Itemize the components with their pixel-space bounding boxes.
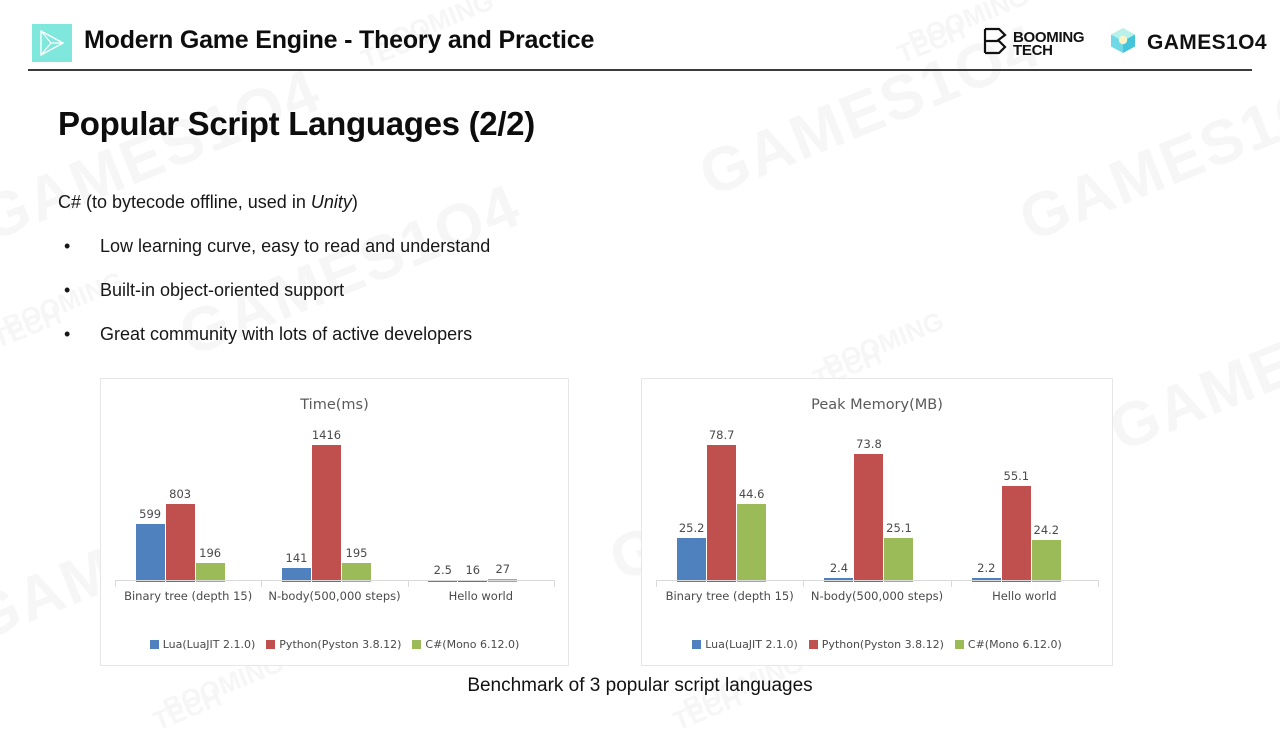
chart-legend: Lua(LuaJIT 2.1.0)Python(Pyston 3.8.12)C#… <box>642 638 1112 651</box>
axis-tick <box>554 580 555 587</box>
category-label: N-body(500,000 steps) <box>803 589 950 603</box>
bullet-marker-icon: • <box>58 324 100 344</box>
bar-value-label: 803 <box>150 487 210 501</box>
bar <box>884 538 913 582</box>
category-label: Hello world <box>408 589 554 603</box>
bar-value-label: 1416 <box>296 428 356 442</box>
bar-group: 25.278.744.6 <box>656 425 803 582</box>
x-axis-line <box>656 580 1098 581</box>
category-label: Hello world <box>951 589 1098 603</box>
axis-tick <box>261 580 262 587</box>
legend-item[interactable]: Lua(LuaJIT 2.1.0) <box>150 638 256 651</box>
legend-swatch-icon <box>955 640 964 649</box>
slide-title: Popular Script Languages (2/2) <box>58 105 535 143</box>
legend-item[interactable]: C#(Mono 6.12.0) <box>412 638 519 651</box>
legend-label: Lua(LuaJIT 2.1.0) <box>705 638 798 651</box>
page-title: Modern Game Engine - Theory and Practice <box>84 26 594 55</box>
booming-b-mark-icon <box>982 27 1008 60</box>
legend-label: Lua(LuaJIT 2.1.0) <box>163 638 256 651</box>
legend-swatch-icon <box>692 640 701 649</box>
slide-header: Modern Game Engine - Theory and Practice… <box>0 0 1280 72</box>
category-label: Binary tree (depth 15) <box>115 589 261 603</box>
x-axis-line <box>115 580 554 581</box>
bullet-marker-icon: • <box>58 236 100 256</box>
axis-tick <box>115 580 116 587</box>
axis-tick <box>656 580 657 587</box>
legend-item[interactable]: Python(Pyston 3.8.12) <box>266 638 401 651</box>
list-item: • Low learning curve, easy to read and u… <box>58 236 490 280</box>
bar <box>737 504 766 582</box>
list-item: • Great community with lots of active de… <box>58 324 490 368</box>
bar <box>854 454 883 582</box>
lead-prefix: C# (to bytecode offline, used in <box>58 192 311 212</box>
bar-group: 2.255.124.2 <box>951 425 1098 582</box>
chart-time-ms: Time(ms)59980319614114161952.51627Binary… <box>100 378 569 666</box>
bar-group: 599803196 <box>115 425 261 582</box>
category-labels: Binary tree (depth 15)N-body(500,000 ste… <box>115 589 554 603</box>
games104-label: GAMES1O4 <box>1147 31 1267 55</box>
list-item-label: Built-in object-oriented support <box>100 280 344 300</box>
axis-tick <box>803 580 804 587</box>
bullet-list: • Low learning curve, easy to read and u… <box>58 236 490 368</box>
chart-title: Time(ms) <box>101 397 568 413</box>
bar <box>136 524 165 582</box>
booming-tech-logo: BOOMING TECH <box>982 27 1084 60</box>
legend-item[interactable]: C#(Mono 6.12.0) <box>955 638 1062 651</box>
bar-group: 2.473.825.1 <box>803 425 950 582</box>
lead-text: C# (to bytecode offline, used in Unity) <box>58 192 358 213</box>
bar-value-label: 78.7 <box>692 428 752 442</box>
legend-swatch-icon <box>809 640 818 649</box>
bar-value-label: 55.1 <box>986 469 1046 483</box>
legend-item[interactable]: Python(Pyston 3.8.12) <box>809 638 944 651</box>
category-label: N-body(500,000 steps) <box>261 589 407 603</box>
chart-legend: Lua(LuaJIT 2.1.0)Python(Pyston 3.8.12)C#… <box>101 638 568 651</box>
lead-suffix: ) <box>352 192 358 212</box>
bar <box>312 445 341 582</box>
legend-label: C#(Mono 6.12.0) <box>968 638 1062 651</box>
list-item-label: Low learning curve, easy to read and und… <box>100 236 490 256</box>
watermark-games104: GAMES1O4 <box>1100 265 1280 466</box>
cube-icon <box>1108 25 1138 60</box>
watermark-booming: BOOMING <box>820 307 948 380</box>
category-label: Binary tree (depth 15) <box>656 589 803 603</box>
category-labels: Binary tree (depth 15)N-body(500,000 ste… <box>656 589 1098 603</box>
axis-tick <box>408 580 409 587</box>
bar-value-label: 25.1 <box>869 521 929 535</box>
chart-title: Peak Memory(MB) <box>642 397 1112 413</box>
bar-value-label: 24.2 <box>1016 523 1076 537</box>
list-item-label: Great community with lots of active deve… <box>100 324 472 344</box>
plot-area: 59980319614114161952.51627 <box>115 425 554 582</box>
bar-group: 2.51627 <box>408 425 554 582</box>
bullet-marker-icon: • <box>58 280 100 300</box>
list-item: • Built-in object-oriented support <box>58 280 490 324</box>
legend-swatch-icon <box>266 640 275 649</box>
legend-label: Python(Pyston 3.8.12) <box>279 638 401 651</box>
watermark-games104: GAMES1O4 <box>0 55 331 256</box>
watermark-booming: TECH <box>0 302 65 354</box>
bar-group: 1411416195 <box>261 425 407 582</box>
legend-item[interactable]: Lua(LuaJIT 2.1.0) <box>692 638 798 651</box>
bar-value-label: 44.6 <box>722 487 782 501</box>
bar-value-label: 27 <box>473 562 533 576</box>
bar <box>166 504 195 582</box>
legend-swatch-icon <box>412 640 421 649</box>
bar <box>677 538 706 582</box>
legend-label: Python(Pyston 3.8.12) <box>822 638 944 651</box>
figure-caption: Benchmark of 3 popular script languages <box>0 675 1280 697</box>
bar-value-label: 196 <box>180 546 240 560</box>
chart-peak-memory-mb: Peak Memory(MB)25.278.744.62.473.825.12.… <box>641 378 1113 666</box>
legend-swatch-icon <box>150 640 159 649</box>
bar-value-label: 195 <box>326 546 386 560</box>
booming-line-2: TECH <box>1013 44 1084 57</box>
legend-label: C#(Mono 6.12.0) <box>425 638 519 651</box>
axis-tick <box>1098 580 1099 587</box>
lead-emphasis: Unity <box>311 192 352 212</box>
watermark-games104: GAMES1O4 <box>1010 55 1280 256</box>
header-divider <box>28 69 1252 71</box>
games104-logo: GAMES1O4 <box>1108 25 1267 60</box>
plot-area: 25.278.744.62.473.825.12.255.124.2 <box>656 425 1098 582</box>
bar <box>707 445 736 582</box>
axis-tick <box>951 580 952 587</box>
bar-value-label: 73.8 <box>839 437 899 451</box>
bar <box>1032 540 1061 582</box>
play-triangle-icon <box>32 24 72 62</box>
